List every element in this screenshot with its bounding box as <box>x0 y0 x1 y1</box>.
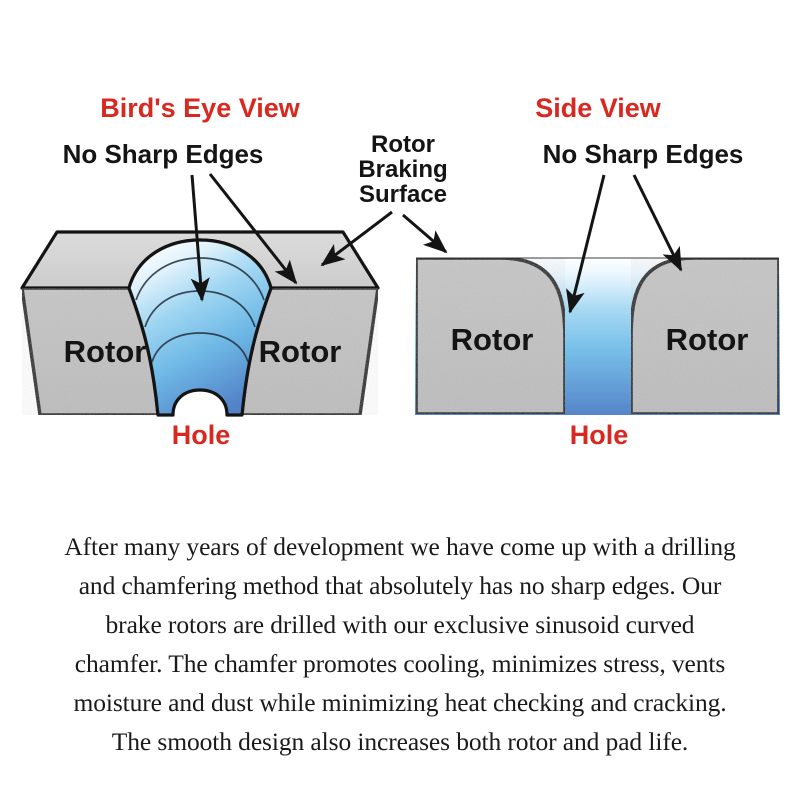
description-paragraph: After many years of development we have … <box>8 527 792 761</box>
birds-eye-rotor-label-right: Rotor <box>259 334 342 369</box>
description-line-1: After many years of development we have … <box>8 527 792 566</box>
rotor-braking-surface-arrow-side-view <box>403 215 446 252</box>
side-view-rotor-label-left: Rotor <box>451 322 534 357</box>
side-view-rotor-label-right: Rotor <box>666 322 749 357</box>
side-view-no-sharp-edges-label: No Sharp Edges <box>543 139 744 169</box>
rotor-braking-surface-line-1: Rotor <box>371 131 435 158</box>
side-view-diagram: Rotor Rotor Hole <box>403 175 780 450</box>
rotor-braking-surface-line-2: Braking <box>358 156 447 183</box>
birds-eye-view-diagram: Rotor Rotor Hole <box>22 174 392 450</box>
side-view-no-sharp-edges-arrow-right <box>634 175 681 270</box>
description-line-5: moisture and dust while minimizing heat … <box>8 683 792 722</box>
birds-eye-rotor-label-left: Rotor <box>64 334 147 369</box>
side-view-hole-label: Hole <box>570 420 629 450</box>
description-line-2: and chamfering method that absolutely ha… <box>8 566 792 605</box>
birds-eye-view-title: Bird's Eye View <box>100 93 301 123</box>
description-line-3: brake rotors are drilled with our exclus… <box>8 605 792 644</box>
rotor-braking-surface-label: Rotor Braking Surface <box>358 131 447 208</box>
description-line-6: The smooth design also increases both ro… <box>8 722 792 761</box>
rotor-braking-surface-line-3: Surface <box>359 181 447 208</box>
illustration-page: Bird's Eye View Side View No Sharp Edges… <box>0 0 800 800</box>
description-line-4: chamfer. The chamfer promotes cooling, m… <box>8 644 792 683</box>
birds-eye-no-sharp-edges-label: No Sharp Edges <box>63 139 264 169</box>
side-view-title: Side View <box>535 93 662 123</box>
birds-eye-hole-label: Hole <box>172 420 231 450</box>
